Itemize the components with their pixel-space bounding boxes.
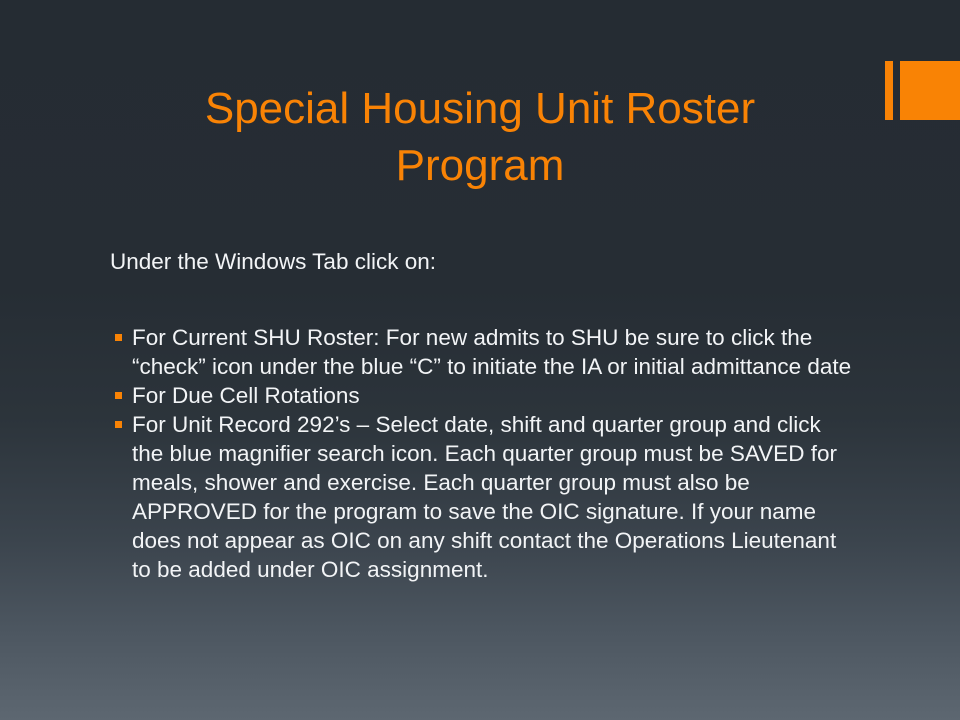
list-item-text: For Due Cell Rotations — [132, 381, 852, 410]
intro-text: Under the Windows Tab click on: — [110, 247, 852, 276]
list-item: For Unit Record 292’s – Select date, shi… — [110, 410, 852, 584]
list-item-text: For Current SHU Roster: For new admits t… — [132, 323, 852, 381]
corner-accent-block-icon — [900, 61, 960, 120]
list-item: For Due Cell Rotations — [110, 381, 852, 410]
list-item-text: For Unit Record 292’s – Select date, shi… — [132, 410, 852, 584]
bullet-list: For Current SHU Roster: For new admits t… — [110, 323, 852, 584]
slide-body: Under the Windows Tab click on: For Curr… — [110, 247, 852, 584]
slide-title: Special Housing Unit Roster Program — [120, 80, 840, 194]
bullet-square-icon — [115, 421, 122, 428]
bullet-square-icon — [115, 392, 122, 399]
list-item: For Current SHU Roster: For new admits t… — [110, 323, 852, 381]
slide-canvas: Special Housing Unit Roster Program Unde… — [0, 0, 960, 720]
corner-accent-bar-icon — [885, 61, 893, 120]
bullet-square-icon — [115, 334, 122, 341]
